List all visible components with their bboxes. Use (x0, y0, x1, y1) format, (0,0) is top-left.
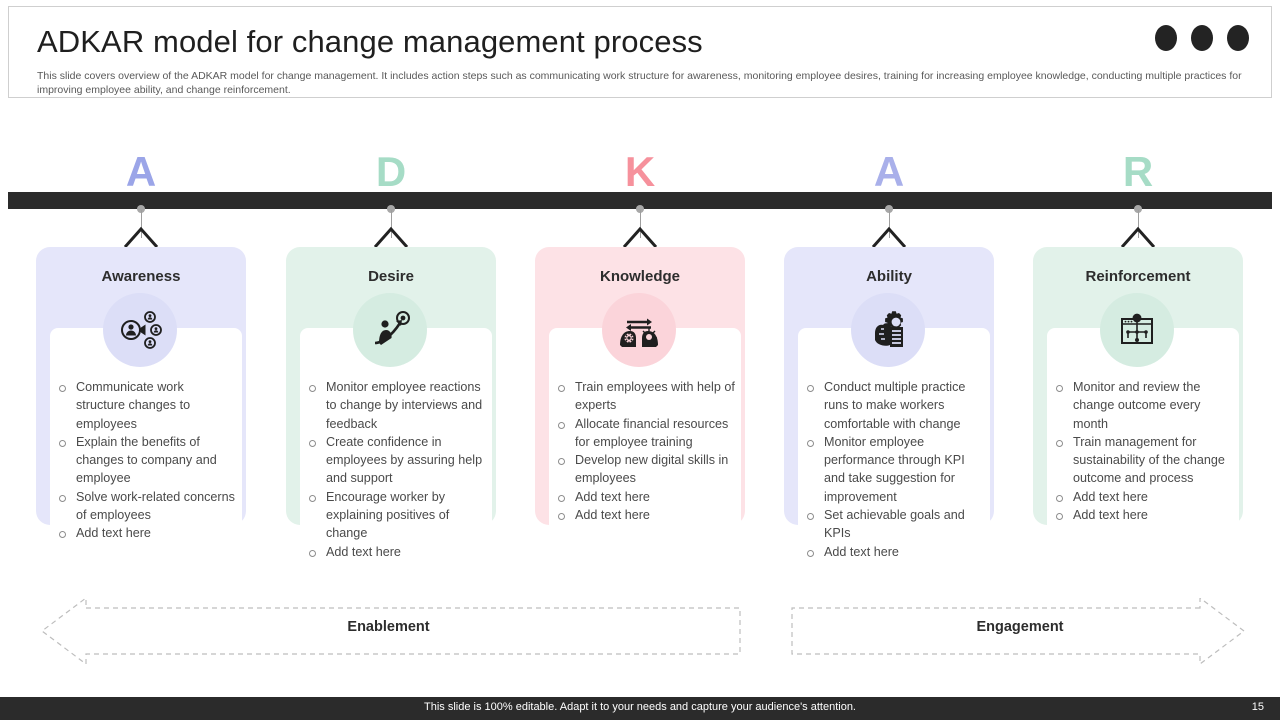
stage-title-reinforcement: Reinforcement (1033, 268, 1243, 285)
knowledge-exchange-heads-icon (602, 293, 676, 367)
stage-title-ability: Ability (784, 268, 994, 285)
stage-title-knowledge: Knowledge (535, 268, 745, 285)
list-item: Allocate financial resources for employe… (557, 415, 735, 452)
stage-bullets-reinforcement: Monitor and review the change outcome ev… (1055, 378, 1233, 524)
list-item: Add text here (308, 543, 486, 561)
list-item: Add text here (1055, 488, 1233, 506)
stage-letter-k: K (515, 150, 765, 194)
list-item: Add text here (1055, 506, 1233, 524)
stage-title-awareness: Awareness (36, 268, 246, 285)
list-item: Add text here (557, 506, 735, 524)
arrow-label-enablement: Enablement (36, 619, 741, 635)
list-item: Solve work-related concerns of employees (58, 488, 236, 525)
page-number: 15 (1252, 701, 1264, 713)
list-item: Create confidence in employees by assuri… (308, 433, 486, 488)
list-item: Conduct multiple practice runs to make w… (806, 378, 984, 433)
gear-brain-skills-icon (851, 293, 925, 367)
list-item: Add text here (557, 488, 735, 506)
process-board-network-icon (1100, 293, 1174, 367)
stage-bullets-awareness: Communicate work structure changes to em… (58, 378, 236, 543)
list-item: Add text here (806, 543, 984, 561)
stage-letter-a1: A (16, 150, 266, 194)
list-item: Set achievable goals and KPIs (806, 506, 984, 543)
list-item: Monitor and review the change outcome ev… (1055, 378, 1233, 433)
footer-note: This slide is 100% editable. Adapt it to… (0, 701, 1280, 713)
list-item: Encourage worker by explaining positives… (308, 488, 486, 543)
arrow-engagement[interactable]: Engagement (790, 598, 1250, 664)
stage-letter-d: D (266, 150, 516, 194)
list-item: Develop new digital skills in employees (557, 451, 735, 488)
stage-letter-r: R (1013, 150, 1263, 194)
stage-chevron-reinforcement (1120, 226, 1156, 248)
stage-chevron-awareness (123, 226, 159, 248)
list-item: Add text here (58, 524, 236, 542)
stage-chevron-desire (373, 226, 409, 248)
stage-chevron-knowledge (622, 226, 658, 248)
list-item: Explain the benefits of changes to compa… (58, 433, 236, 488)
stage-title-desire: Desire (286, 268, 496, 285)
stage-bullets-knowledge: Train employees with help of experts All… (557, 378, 735, 524)
slide-footer: This slide is 100% editable. Adapt it to… (0, 697, 1280, 720)
person-goal-target-icon (353, 293, 427, 367)
list-item: Monitor employee performance through KPI… (806, 433, 984, 506)
stage-letter-a2: A (764, 150, 1014, 194)
arrow-label-engagement: Engagement (790, 619, 1250, 635)
arrow-enablement[interactable]: Enablement (36, 598, 741, 664)
stage-bullets-desire: Monitor employee reactions to change by … (308, 378, 486, 561)
stage-bullets-ability: Conduct multiple practice runs to make w… (806, 378, 984, 561)
megaphone-broadcast-icon (103, 293, 177, 367)
list-item: Communicate work structure changes to em… (58, 378, 236, 433)
list-item: Train employees with help of experts (557, 378, 735, 415)
stage-chevron-ability (871, 226, 907, 248)
list-item: Train management for sustainability of t… (1055, 433, 1233, 488)
list-item: Monitor employee reactions to change by … (308, 378, 486, 433)
